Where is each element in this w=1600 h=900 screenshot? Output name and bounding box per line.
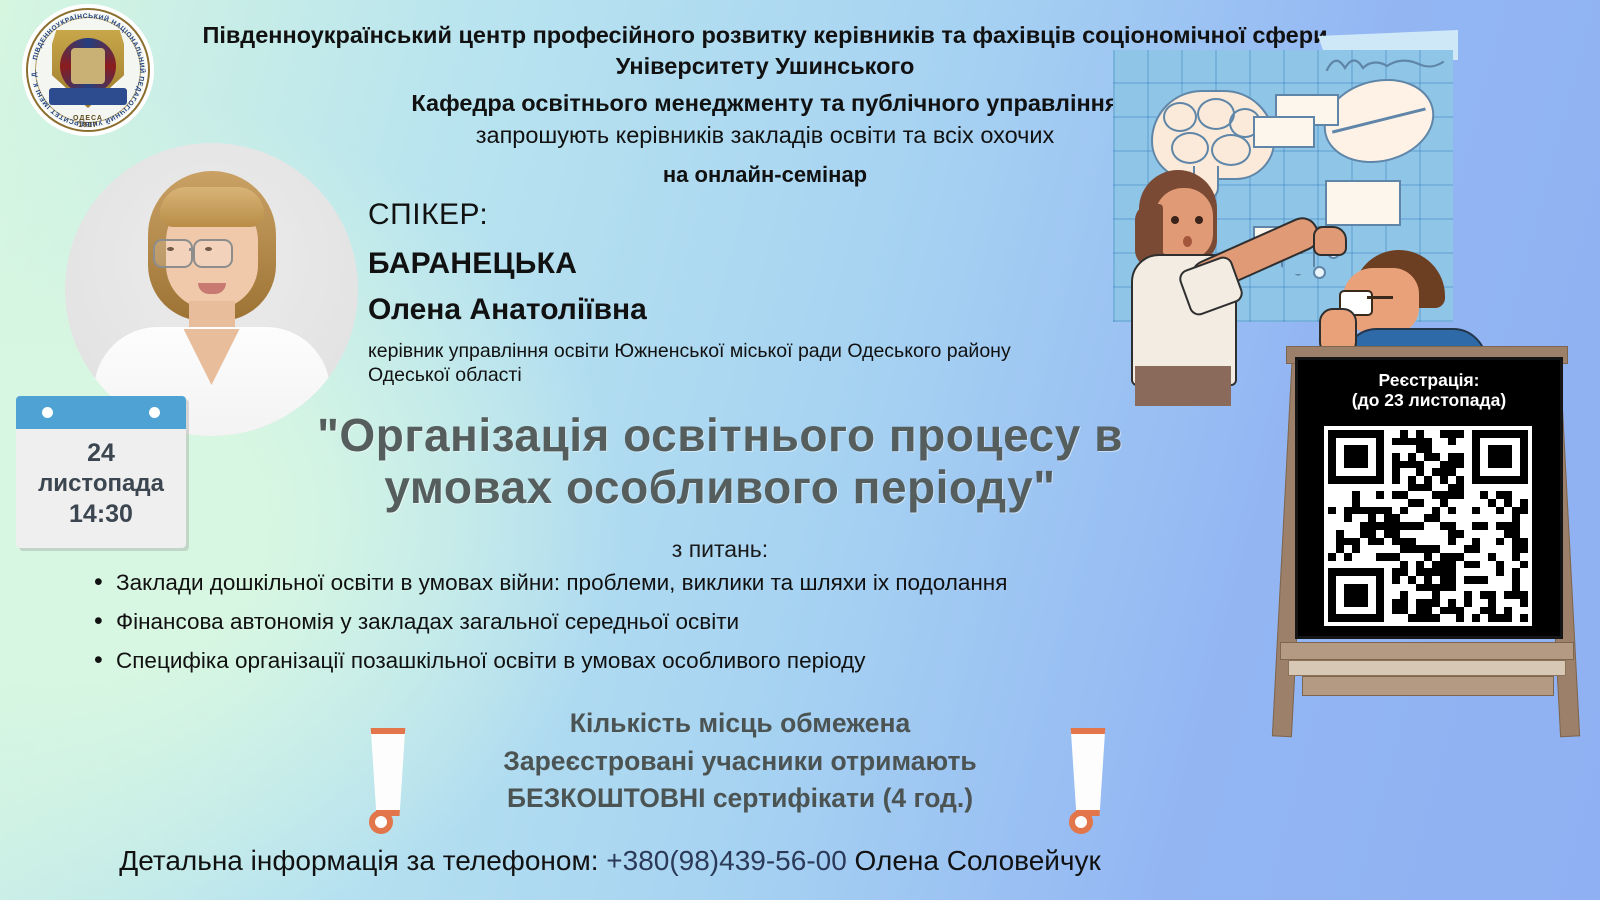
woman-skirt: [1135, 366, 1231, 406]
calendar-body: 24 листопада 14:30: [16, 429, 186, 531]
contact-prefix: Детальна інформація за телефоном:: [119, 845, 606, 876]
board-note-card: [1253, 116, 1315, 148]
logo-city: ОДЕСА: [73, 115, 103, 122]
speaker-position-line-2: Одеської області: [368, 363, 1068, 388]
page-title-line-2: умовах особливого періоду": [200, 462, 1240, 514]
speaker-position: керівник управління освіти Южненської мі…: [368, 339, 1068, 389]
logo-year-block: ОДЕСА 1817: [22, 115, 154, 130]
logo-founding-year: 1817: [78, 122, 98, 129]
contact-person: Олена Соловейчук: [847, 845, 1101, 876]
notice-block: Кількість місць обмежена Зареєстровані у…: [380, 705, 1100, 818]
calendar-ring-hole-left: [42, 407, 53, 418]
calendar-ring-hole-right: [149, 407, 160, 418]
brain-fold: [1171, 132, 1209, 164]
photo-glasses-bridge: [189, 248, 195, 251]
contact-footer: Детальна інформація за телефоном: +380(9…: [0, 845, 1220, 877]
photo-fringe: [160, 187, 264, 227]
calendar-widget: 24 листопада 14:30: [16, 396, 186, 548]
speaker-surname: БАРАНЕЦЬКА: [368, 247, 1068, 281]
easel-tray-middle: [1288, 660, 1566, 676]
notice-line-3: БЕЗКОШТОВНІ сертифікати (4 год.): [380, 780, 1100, 818]
calendar-time: 14:30: [16, 499, 186, 530]
board-scribble-line: [1325, 56, 1445, 74]
photo-glasses-left: [153, 239, 193, 268]
calendar-month: листопада: [16, 469, 186, 499]
photo-glasses-right: [193, 239, 233, 268]
brain-fold: [1211, 134, 1251, 166]
registration-deadline: (до 23 листопада): [1298, 390, 1560, 410]
calendar-header: [16, 396, 186, 429]
calendar-day: 24: [16, 438, 186, 469]
logo-shield-core: [71, 48, 105, 84]
university-logo: ПІВДЕННОУКРАЇНСЬКИЙ НАЦІОНАЛЬНИЙ ПЕДАГОГ…: [22, 4, 154, 136]
easel-tray-top: [1280, 642, 1574, 660]
easel-registration-board: Реєстрація: (до 23 листопада): [1262, 342, 1592, 742]
man-glasses-temple: [1367, 296, 1393, 299]
speaker-block: СПІКЕР: БАРАНЕЦЬКА Олена Анатоліївна кер…: [368, 198, 1068, 388]
logo-banner: [49, 88, 127, 105]
agenda-list: Заклади дошкільної освіти в умовах війни…: [92, 572, 1272, 689]
speaker-photo: [65, 143, 358, 436]
registration-text-block: Реєстрація: (до 23 листопада): [1298, 360, 1560, 411]
event-poster: ПІВДЕННОУКРАЇНСЬКИЙ НАЦІОНАЛЬНИЙ ПЕДАГОГ…: [0, 0, 1600, 900]
notice-line-1: Кількість місць обмежена: [380, 705, 1100, 743]
registration-heading: Реєстрація:: [1298, 370, 1560, 390]
speaker-role-label: СПІКЕР:: [368, 198, 1068, 233]
agenda-lead-label: з питань:: [200, 536, 1240, 563]
page-title-line-1: "Організація освітнього процесу в: [200, 410, 1240, 462]
speaker-position-line-1: керівник управління освіти Южненської мі…: [368, 339, 1068, 364]
illustration-woman: [1121, 170, 1281, 382]
easel-tray-bottom: [1302, 676, 1554, 696]
agenda-item: Заклади дошкільної освіти в умовах війни…: [92, 572, 1272, 595]
woman-eye: [1171, 216, 1179, 224]
qr-code[interactable]: [1324, 426, 1532, 626]
agenda-item: Специфіка організації позашкільної освіт…: [92, 650, 1272, 673]
page-title: "Організація освітнього процесу в умовах…: [200, 410, 1240, 513]
woman-mouth: [1183, 236, 1192, 247]
contact-phone[interactable]: +380(98)439-56-00: [606, 845, 847, 876]
woman-eye: [1195, 216, 1203, 224]
brain-fold: [1163, 102, 1197, 132]
woman-face: [1155, 188, 1213, 260]
agenda-item: Фінансова автономія у закладах загальної…: [92, 611, 1272, 634]
registration-slate: Реєстрація: (до 23 листопада): [1298, 360, 1560, 636]
illustration-scientists: [1113, 22, 1513, 382]
notice-line-2: Зареєстровані учасники отримають: [380, 743, 1100, 781]
speaker-given-name: Олена Анатоліївна: [368, 293, 1068, 327]
